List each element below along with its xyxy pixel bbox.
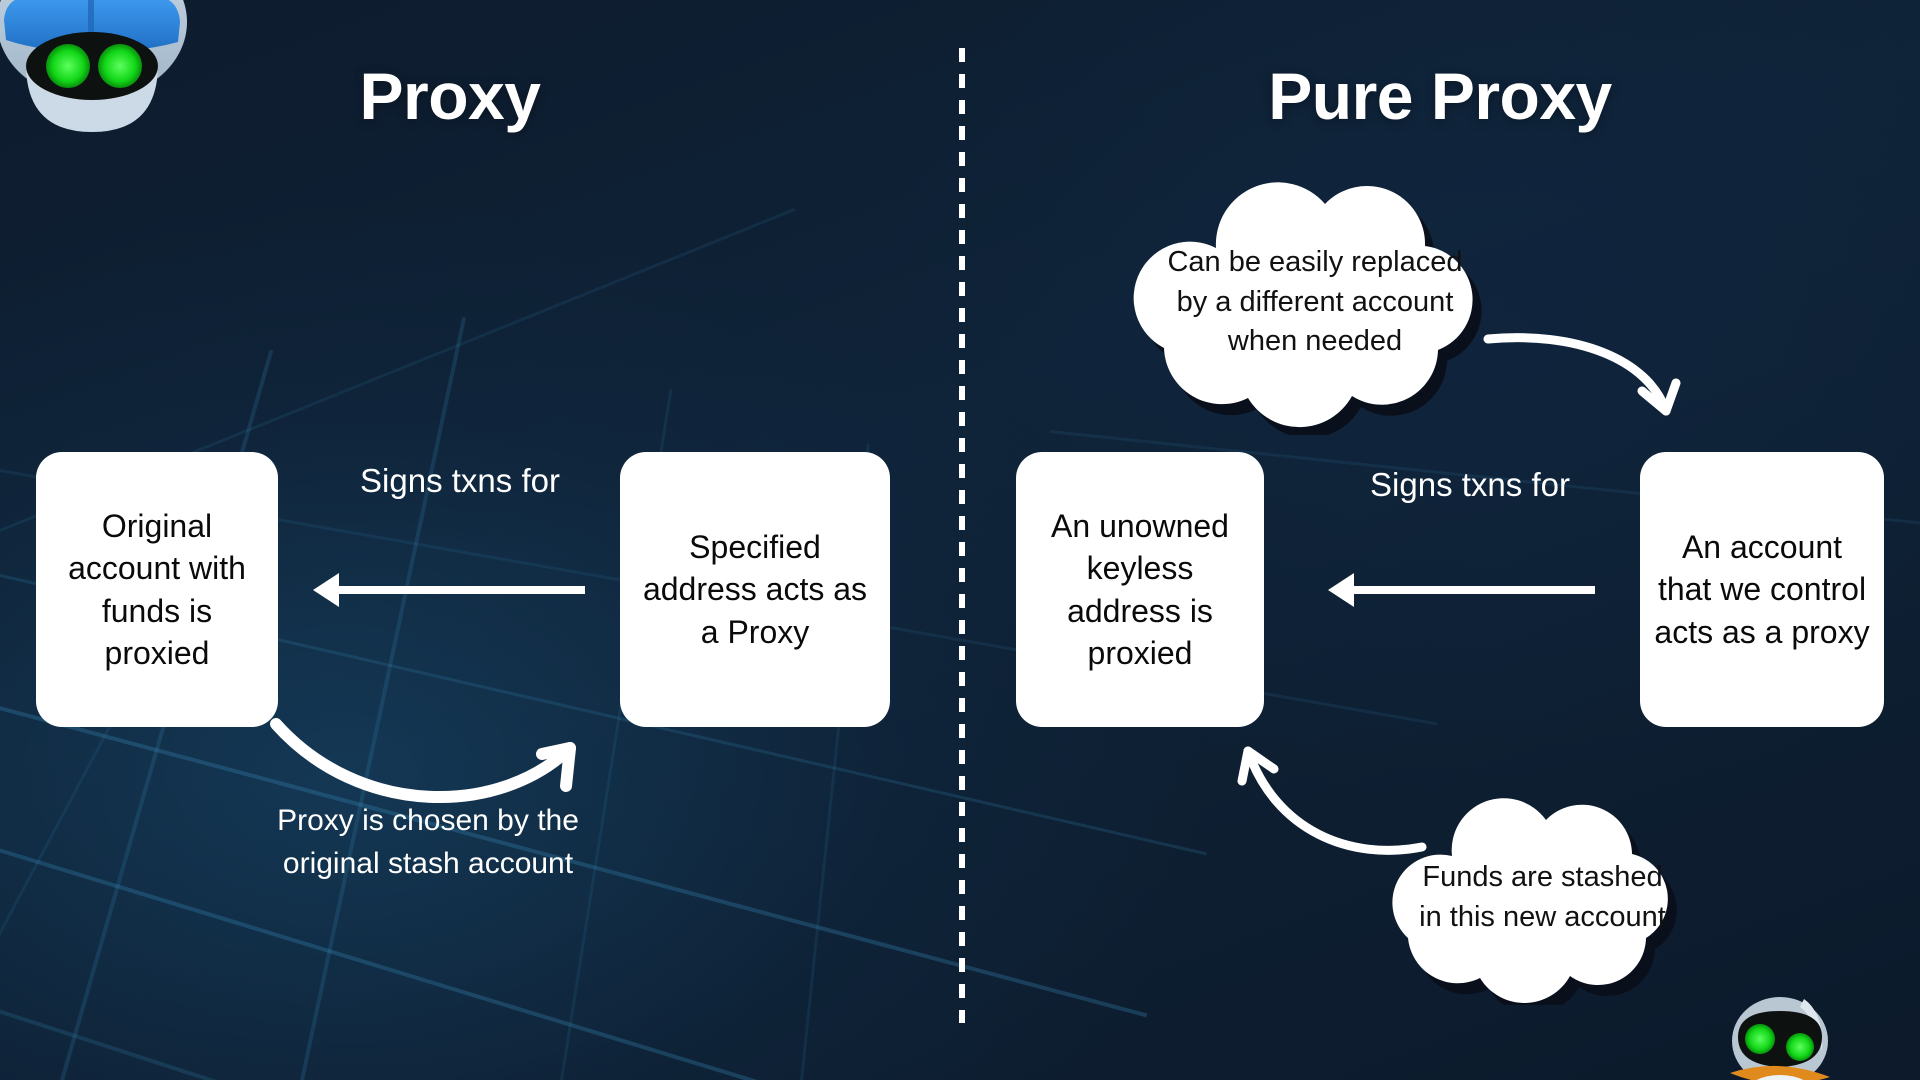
cloud-funds-stashed: Funds are stashed in this new account: [1370, 790, 1715, 1005]
arrow-signs-txns-proxy: [335, 586, 585, 594]
caption-proxy-chosen-by-stash: Proxy is chosen by the original stash ac…: [268, 800, 588, 885]
page-title-pure-proxy: Pure Proxy: [960, 58, 1920, 134]
cloud-funds-text: Funds are stashed in this new account: [1370, 790, 1715, 1005]
node-original-account: Original account with funds is proxied: [36, 452, 278, 727]
cloud-replaceable-account: Can be easily replaced by a different ac…: [1120, 170, 1510, 435]
slide-canvas: Proxy Pure Proxy Original account with f…: [0, 0, 1920, 1080]
robot-head-icon: [1718, 985, 1853, 1080]
node-unowned-keyless-address: An unowned keyless address is proxied: [1016, 452, 1264, 727]
edge-label-signs-txns-for-proxy: Signs txns for: [310, 460, 610, 503]
page-title-proxy: Proxy: [0, 58, 900, 134]
node-controlled-account: An account that we control acts as a pro…: [1640, 452, 1884, 727]
cloud-replaceable-text: Can be easily replaced by a different ac…: [1120, 170, 1510, 435]
vertical-dashed-divider: [959, 48, 965, 1023]
curved-arrow-cloud-to-account: [1480, 325, 1710, 445]
edge-label-signs-txns-for-pure: Signs txns for: [1320, 464, 1620, 507]
node-specified-address: Specified address acts as a Proxy: [620, 452, 890, 727]
arrow-signs-txns-pure: [1350, 586, 1595, 594]
